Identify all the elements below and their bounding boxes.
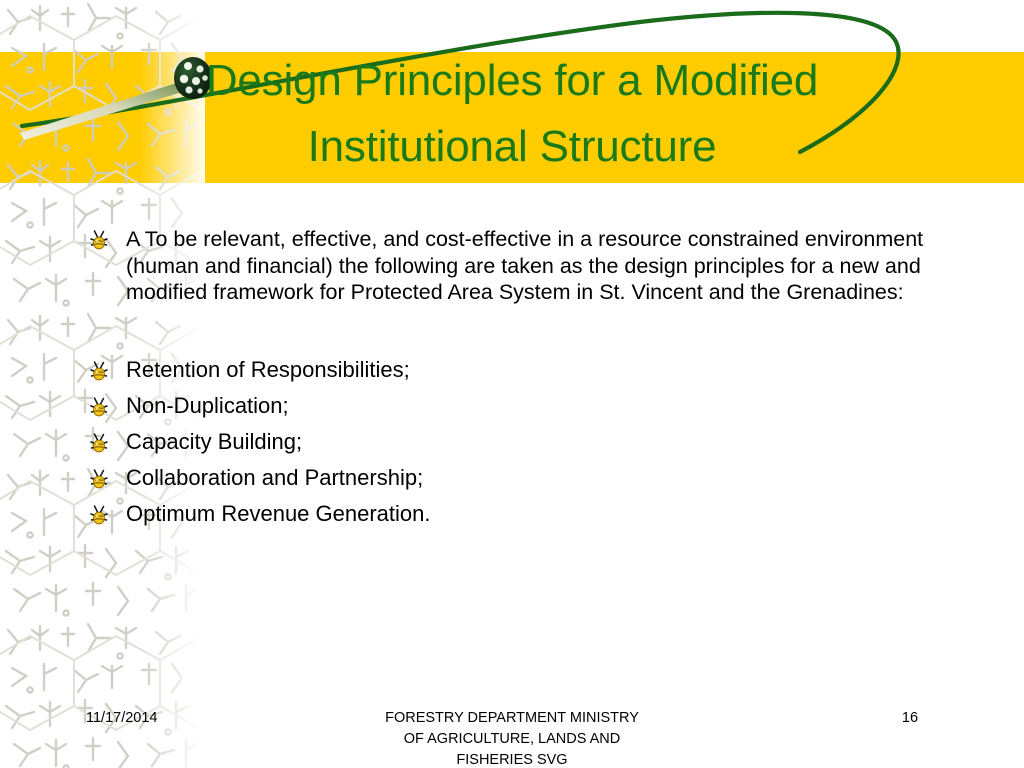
footer-organization-line-3: FISHERIES SVG	[262, 750, 762, 768]
intro-paragraph-row: A To be relevant, effective, and cost-ef…	[88, 226, 968, 306]
slide-body: A To be relevant, effective, and cost-ef…	[88, 226, 968, 532]
slide-title: Design Principles for a Modified Institu…	[0, 48, 1024, 180]
footer-page-number: 16	[880, 708, 940, 728]
list-item: Retention of Responsibilities;	[88, 352, 968, 388]
footer-date: 11/17/2014	[86, 708, 158, 728]
list-item-label: Optimum Revenue Generation.	[126, 500, 431, 528]
list-item: Capacity Building;	[88, 424, 968, 460]
list-item-label: Non-Duplication;	[126, 392, 289, 420]
bee-icon	[88, 431, 110, 455]
title-line-2: Institutional Structure	[0, 114, 1024, 180]
list-item: Collaboration and Partnership;	[88, 460, 968, 496]
list-item-label: Collaboration and Partnership;	[126, 464, 423, 492]
list-item: Optimum Revenue Generation.	[88, 496, 968, 532]
presentation-slide: Design Principles for a Modified Institu…	[0, 0, 1024, 768]
footer-organization-line-1: FORESTRY DEPARTMENT MINISTRY	[262, 708, 762, 729]
footer-organization: FORESTRY DEPARTMENT MINISTRY OF AGRICULT…	[262, 708, 762, 768]
bee-icon	[88, 395, 110, 419]
list-item-label: Retention of Responsibilities;	[126, 356, 410, 384]
bee-icon	[88, 467, 110, 491]
title-line-1: Design Principles for a Modified	[0, 48, 1024, 114]
slide-footer: 11/17/2014 FORESTRY DEPARTMENT MINISTRY …	[0, 702, 1024, 768]
intro-paragraph-text: A To be relevant, effective, and cost-ef…	[126, 226, 946, 306]
principles-list: Retention of Responsibilities;	[88, 352, 968, 532]
footer-organization-line-2: OF AGRICULTURE, LANDS AND	[262, 729, 762, 750]
list-item-label: Capacity Building;	[126, 428, 302, 456]
bee-icon	[88, 228, 110, 252]
bee-icon	[88, 359, 110, 383]
list-item: Non-Duplication;	[88, 388, 968, 424]
bee-icon	[88, 503, 110, 527]
